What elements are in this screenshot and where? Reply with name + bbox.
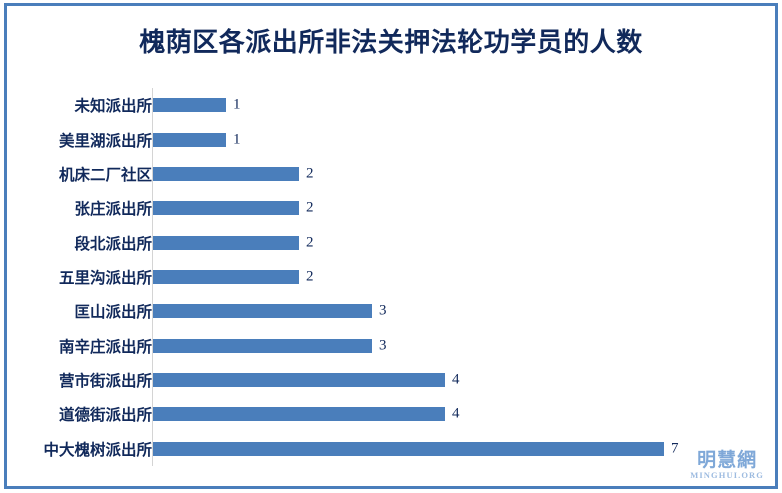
bar-row: 张庄派出所2 bbox=[20, 192, 760, 225]
watermark-latin-text: MINGHUI.ORG bbox=[690, 471, 764, 480]
bar-row: 营市街派出所4 bbox=[20, 364, 760, 397]
bar-row: 中大槐树派出所7 bbox=[20, 432, 760, 465]
bar-value-label: 4 bbox=[452, 372, 460, 389]
category-label: 未知派出所 bbox=[74, 94, 152, 116]
watermark-chinese-text: 明慧網 bbox=[690, 451, 764, 470]
category-label: 道德街派出所 bbox=[59, 403, 152, 425]
bar-value-label: 7 bbox=[671, 440, 679, 457]
bar-row: 道德街派出所4 bbox=[20, 398, 760, 431]
bar-value-label: 1 bbox=[233, 97, 241, 114]
bar-value-label: 2 bbox=[306, 200, 314, 217]
bar bbox=[153, 442, 664, 456]
watermark: 明慧網 MINGHUI.ORG bbox=[690, 451, 764, 480]
bar-row: 未知派出所1 bbox=[20, 89, 760, 122]
bar-value-label: 2 bbox=[306, 234, 314, 251]
bar-value-label: 2 bbox=[306, 165, 314, 182]
bar-value-label: 1 bbox=[233, 131, 241, 148]
bar-value-label: 3 bbox=[379, 337, 387, 354]
category-label: 美里湖派出所 bbox=[59, 129, 152, 151]
category-label: 中大槐树派出所 bbox=[43, 438, 152, 460]
bar bbox=[153, 304, 372, 318]
bar bbox=[153, 167, 299, 181]
bar-row: 匡山派出所3 bbox=[20, 295, 760, 328]
bar-value-label: 2 bbox=[306, 269, 314, 286]
category-label: 五里沟派出所 bbox=[59, 266, 152, 288]
bars-layer: 未知派出所1美里湖派出所1机床二厂社区2张庄派出所2段北派出所2五里沟派出所2匡… bbox=[20, 88, 760, 466]
bar bbox=[153, 98, 226, 112]
bar bbox=[153, 133, 226, 147]
bar-row: 五里沟派出所2 bbox=[20, 261, 760, 294]
bar bbox=[153, 339, 372, 353]
bar-row: 南辛庄派出所3 bbox=[20, 329, 760, 362]
category-label: 匡山派出所 bbox=[74, 300, 152, 322]
bar-row: 段北派出所2 bbox=[20, 226, 760, 259]
bar bbox=[153, 201, 299, 215]
bar bbox=[153, 236, 299, 250]
chart-figure: 槐荫区各派出所非法关押法轮功学员的人数 未知派出所1美里湖派出所1机床二厂社区2… bbox=[0, 0, 782, 493]
bar-row: 美里湖派出所1 bbox=[20, 123, 760, 156]
category-label: 南辛庄派出所 bbox=[59, 335, 152, 357]
bar-value-label: 4 bbox=[452, 406, 460, 423]
bar-value-label: 3 bbox=[379, 303, 387, 320]
bar bbox=[153, 407, 445, 421]
category-label: 张庄派出所 bbox=[74, 197, 152, 219]
chart-title: 槐荫区各派出所非法关押法轮功学员的人数 bbox=[0, 22, 782, 59]
bar bbox=[153, 373, 445, 387]
plot-area: 未知派出所1美里湖派出所1机床二厂社区2张庄派出所2段北派出所2五里沟派出所2匡… bbox=[20, 88, 760, 466]
bar-row: 机床二厂社区2 bbox=[20, 157, 760, 190]
bar bbox=[153, 270, 299, 284]
category-label: 段北派出所 bbox=[74, 232, 152, 254]
category-label: 机床二厂社区 bbox=[59, 163, 152, 185]
category-label: 营市街派出所 bbox=[59, 369, 152, 391]
